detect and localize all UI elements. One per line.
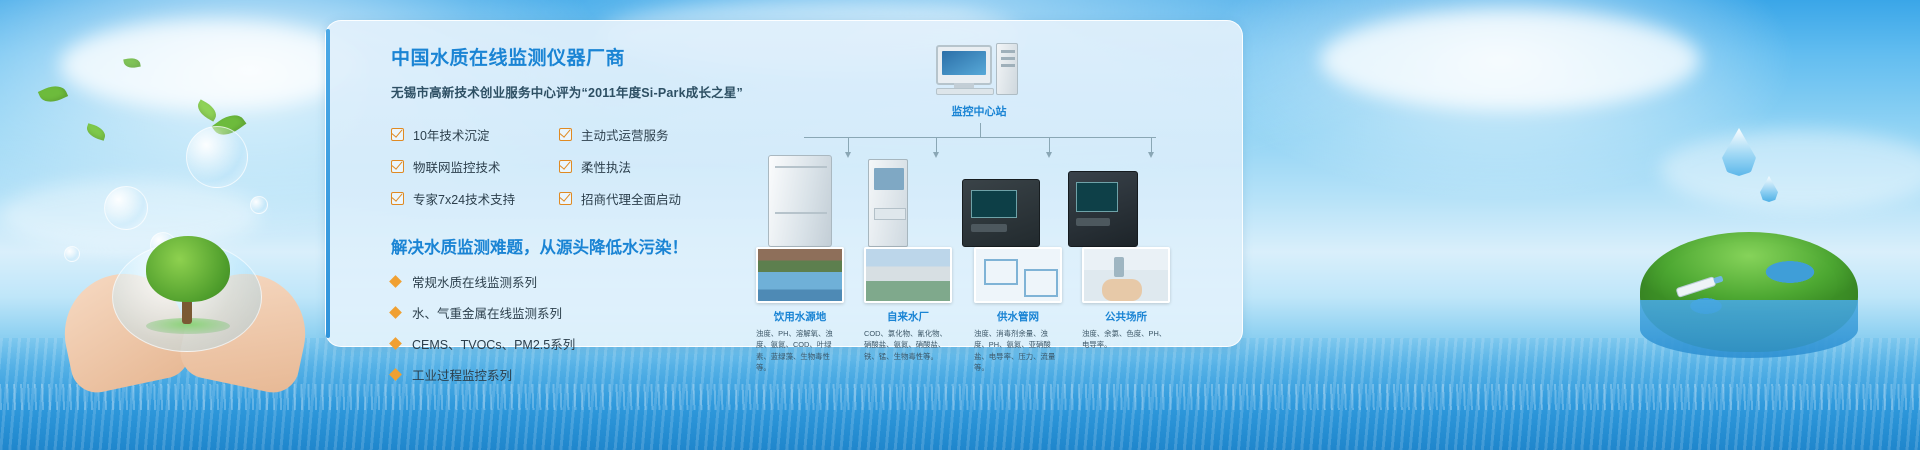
scene-card[interactable]: 公共场所 浊度、余氯、色度、PH、电导率。 <box>1082 247 1170 351</box>
monitoring-center-computer-icon <box>936 43 1022 99</box>
diamond-bullet-icon <box>389 275 402 288</box>
bubble-decoration <box>104 186 148 230</box>
feature-label: 10年技术沉淀 <box>413 125 489 144</box>
cloud-decoration <box>1660 130 1920 210</box>
list-item[interactable]: 常规水质在线监测系列 <box>391 272 751 291</box>
scene-card[interactable]: 供水管网 浊度、消毒剂余量、浊度、PH、氨氮、亚硝酸盐、电导率、压力、流量等。 <box>974 247 1062 374</box>
application-scene-row: 饮用水源地 浊度、PH、溶解氧、浊度、氨氮、COD、叶绿素、蓝绿藻、生物毒性等。… <box>756 247 1226 347</box>
connector-horizontal-line <box>804 137 1156 138</box>
list-item-label: CEMS、TVOCs、PM2.5系列 <box>412 334 575 353</box>
bubble-decoration <box>250 196 268 214</box>
scene-description: 浊度、PH、溶解氧、浊度、氨氮、COD、叶绿素、蓝绿藻、生物毒性等。 <box>756 328 844 374</box>
waterworks-photo <box>864 247 952 303</box>
feature-label: 柔性执法 <box>581 157 631 176</box>
feature-item: 主动式运营服务 <box>559 125 751 144</box>
list-item-label: 工业过程监控系列 <box>412 365 512 384</box>
list-item[interactable]: CEMS、TVOCs、PM2.5系列 <box>391 334 751 353</box>
feature-item: 专家7x24技术支持 <box>391 189 559 208</box>
tree-canopy <box>146 236 230 302</box>
feature-label: 物联网监控技术 <box>413 157 501 176</box>
pc-tower-icon <box>996 43 1018 95</box>
scene-description: 浊度、消毒剂余量、浊度、PH、氨氮、亚硝酸盐、电导率、压力、流量等。 <box>974 328 1062 374</box>
monitoring-topology-diagram: 监控中心站 饮用水源地 浊度、PH、溶解氧、浊度、氨氮、COD、叶绿素、蓝绿藻、… <box>756 35 1226 345</box>
bubble-decoration <box>186 126 248 188</box>
panel-left-column: 中国水质在线监测仪器厂商 无锡市高新技术创业服务中心评为“2011年度Si-Pa… <box>391 43 751 396</box>
scene-caption: 饮用水源地 <box>756 309 844 324</box>
water-quality-cabinet-icon <box>768 155 832 247</box>
controller-device-icon <box>962 179 1040 247</box>
product-series-list: 常规水质在线监测系列 水、气重金属在线监测系列 CEMS、TVOCs、PM2.5… <box>391 272 751 384</box>
earth-sea <box>1640 300 1858 358</box>
monitor-icon <box>936 45 992 85</box>
scene-caption: 公共场所 <box>1082 309 1170 324</box>
feature-item: 柔性执法 <box>559 157 751 176</box>
feature-label: 主动式运营服务 <box>581 125 669 144</box>
checkbox-icon <box>559 192 572 205</box>
leaf-icon <box>38 81 68 106</box>
list-item-label: 常规水质在线监测系列 <box>412 272 537 291</box>
feature-checklist: 10年技术沉淀 主动式运营服务 物联网监控技术 柔性执法 专家7x24技术支持 … <box>391 125 751 208</box>
checkbox-icon <box>559 160 572 173</box>
main-panel: 中国水质在线监测仪器厂商 无锡市高新技术创业服务中心评为“2011年度Si-Pa… <box>325 20 1243 347</box>
transmitter-device-icon <box>1068 171 1138 247</box>
list-item[interactable]: 工业过程监控系列 <box>391 365 751 384</box>
list-item-label: 水、气重金属在线监测系列 <box>412 303 562 322</box>
leaf-icon <box>85 123 108 141</box>
list-item[interactable]: 水、气重金属在线监测系列 <box>391 303 751 322</box>
feature-item: 物联网监控技术 <box>391 157 559 176</box>
cloud-decoration <box>60 20 360 110</box>
connector-up-line <box>980 123 981 137</box>
scene-caption: 供水管网 <box>974 309 1062 324</box>
keyboard-icon <box>936 88 994 95</box>
analyzer-cabinet-icon <box>868 159 908 247</box>
sea-shine-decoration <box>0 384 1920 410</box>
device-row <box>756 147 1226 247</box>
checkbox-icon <box>391 160 404 173</box>
checkbox-icon <box>391 128 404 141</box>
diamond-bullet-icon <box>389 306 402 319</box>
checkbox-icon <box>559 128 572 141</box>
center-station-label: 监控中心站 <box>904 103 1054 119</box>
pipe-network-diagram-photo <box>974 247 1062 303</box>
scene-description: 浊度、余氯、色度、PH、电导率。 <box>1082 328 1170 351</box>
feature-item: 招商代理全面启动 <box>559 189 751 208</box>
reservoir-photo <box>756 247 844 303</box>
diamond-bullet-icon <box>389 368 402 381</box>
scene-caption: 自来水厂 <box>864 309 952 324</box>
feature-label: 专家7x24技术支持 <box>413 189 515 208</box>
page-subtitle: 无锡市高新技术创业服务中心评为“2011年度Si-Park成长之星” <box>391 82 751 101</box>
checkbox-icon <box>391 192 404 205</box>
feature-label: 招商代理全面启动 <box>581 189 681 208</box>
diamond-bullet-icon <box>389 337 402 350</box>
page-title: 中国水质在线监测仪器厂商 <box>391 43 751 70</box>
hands-holding-tree-illustration <box>60 236 310 386</box>
cloud-decoration <box>1320 10 1700 110</box>
scene-description: COD、氯化物、氰化物、硝酸盐、氨氮、硝酸盐、铁、锰、生物毒性等。 <box>864 328 952 362</box>
public-faucet-photo <box>1082 247 1170 303</box>
section-headline: 解决水质监测难题，从源头降低水污染！ <box>391 234 751 258</box>
feature-item: 10年技术沉淀 <box>391 125 559 144</box>
monitor-screen <box>942 51 986 75</box>
scene-card[interactable]: 自来水厂 COD、氯化物、氰化物、硝酸盐、氨氮、硝酸盐、铁、锰、生物毒性等。 <box>864 247 952 362</box>
scene-card[interactable]: 饮用水源地 浊度、PH、溶解氧、浊度、氨氮、COD、叶绿素、蓝绿藻、生物毒性等。 <box>756 247 844 374</box>
